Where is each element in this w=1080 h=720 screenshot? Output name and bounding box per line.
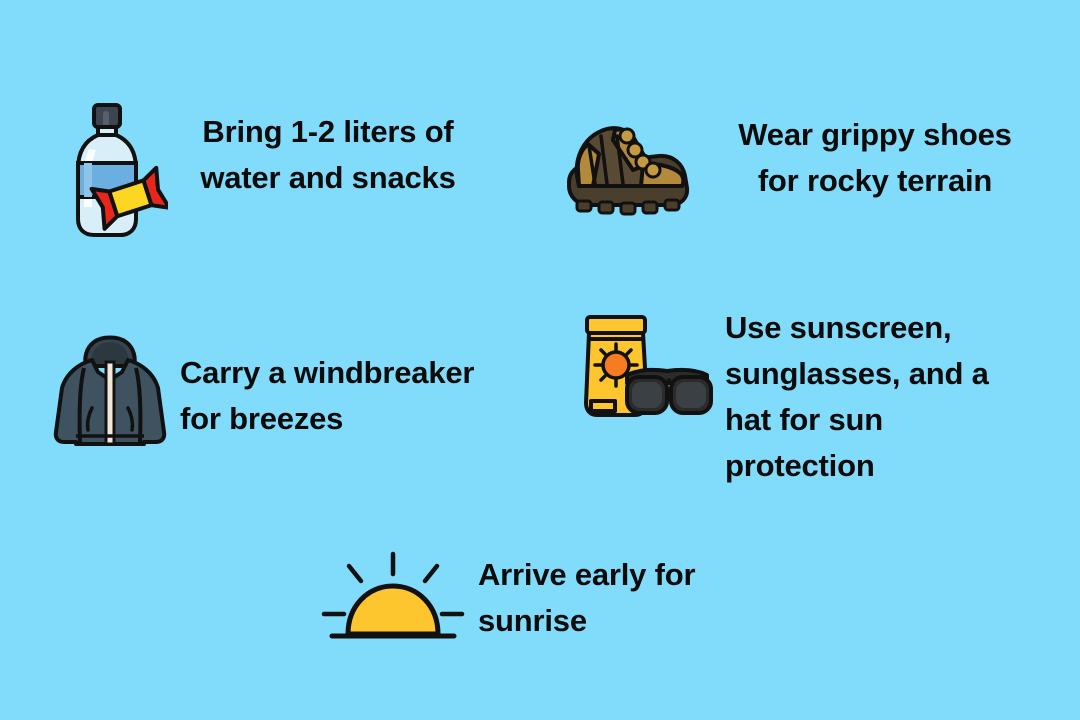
hiking-shoe-icon (555, 106, 700, 226)
tip-label-jacket: Carry a windbreaker for breezes (180, 350, 510, 442)
tip-label-sunscreen: Use sunscreen, sunglasses, and a hat for… (725, 305, 1015, 489)
tip-label-sunrise: Arrive early for sunrise (478, 552, 778, 644)
tip-label-water: Bring 1-2 liters of water and snacks (178, 109, 478, 201)
tip-item-jacket: Carry a windbreaker for breezes (50, 330, 510, 452)
tip-item-sunrise: Arrive early for sunrise (318, 540, 778, 651)
tip-item-shoes: Wear grippy shoes for rocky terrain (555, 100, 1040, 226)
windbreaker-jacket-icon (50, 332, 170, 452)
tip-item-sunscreen: Use sunscreen, sunglasses, and a hat for… (575, 305, 1015, 489)
tip-label-shoes: Wear grippy shoes for rocky terrain (710, 112, 1040, 204)
sunrise-icon (318, 546, 468, 651)
hiking-tips-infographic: Bring 1-2 liters of water and snacks (0, 0, 1080, 720)
sunscreen-and-sunglasses-icon (575, 311, 715, 426)
water-bottle-and-snack-icon (58, 97, 168, 247)
tip-item-water: Bring 1-2 liters of water and snacks (58, 95, 478, 247)
